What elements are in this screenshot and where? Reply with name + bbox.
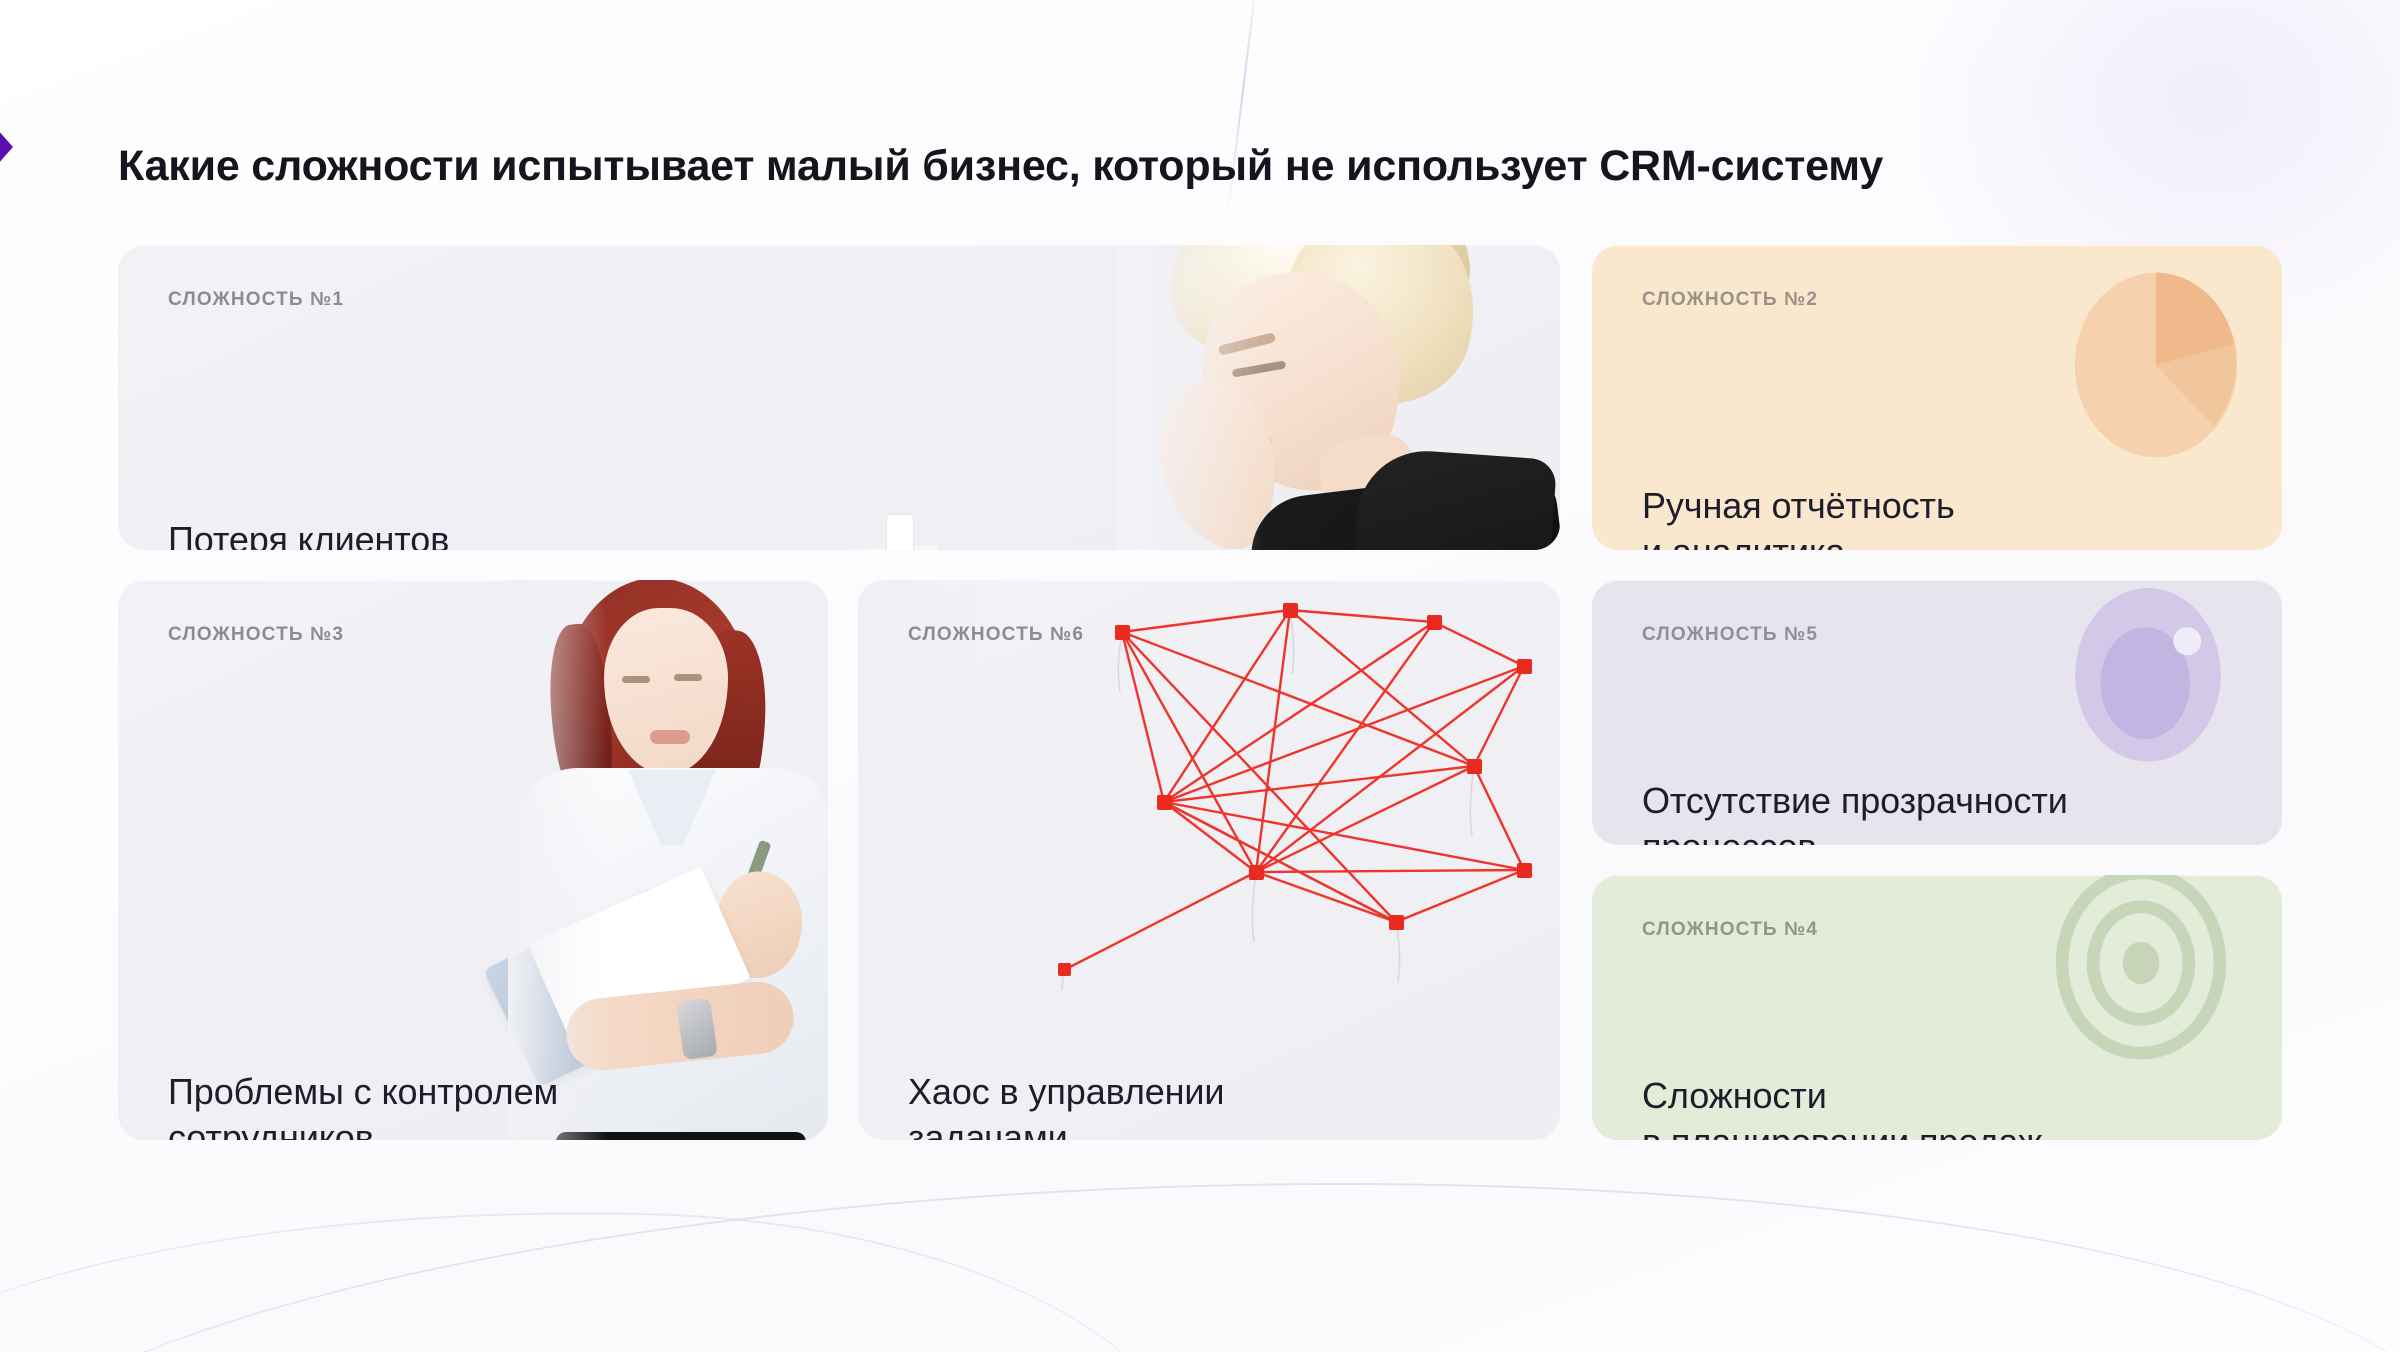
- card-eyebrow: СЛОЖНОСТЬ №6: [908, 624, 1510, 646]
- card-eyebrow: СЛОЖНОСТЬ №5: [1642, 624, 2232, 646]
- card-title: Сложности в планировании продаж: [1642, 1073, 2072, 1140]
- card-title: Ручная отчётность и аналитика: [1642, 483, 2072, 550]
- card-eyebrow: СЛОЖНОСТЬ №4: [1642, 919, 2232, 941]
- card-difficulty-3[interactable]: СЛОЖНОСТЬ №3 Проблемы с контролем сотруд…: [118, 580, 828, 1140]
- card-title: Потеря клиентов: [168, 517, 1510, 550]
- card-title: Хаос в управлении задачами: [908, 1069, 1510, 1140]
- card-difficulty-4[interactable]: СЛОЖНОСТЬ №4 Сложности в планировании пр…: [1592, 875, 2282, 1140]
- card-eyebrow: СЛОЖНОСТЬ №2: [1642, 289, 2232, 311]
- page-title: Какие сложности испытывает малый бизнес,…: [118, 141, 2268, 192]
- card-difficulty-6[interactable]: СЛОЖНОСТЬ №6 Хаос в управлении задачами: [858, 580, 1560, 1140]
- card-eyebrow: СЛОЖНОСТЬ №1: [168, 289, 1510, 311]
- card-eyebrow: СЛОЖНОСТЬ №3: [168, 624, 778, 646]
- card-difficulty-2[interactable]: СЛОЖНОСТЬ №2 Ручная отчётность и аналити…: [1592, 245, 2282, 550]
- cards-grid: СЛОЖНОСТЬ №1 Потеря клиентов СЛОЖНОСТЬ №…: [118, 245, 2282, 1245]
- card-title: Отсутствие прозрачности процессов: [1642, 778, 2072, 845]
- card-difficulty-1[interactable]: СЛОЖНОСТЬ №1 Потеря клиентов: [118, 245, 1560, 550]
- slide-canvas: Какие сложности испытывает малый бизнес,…: [0, 0, 2400, 1352]
- card-title: Проблемы с контролем сотрудников: [168, 1069, 778, 1140]
- card-difficulty-5[interactable]: СЛОЖНОСТЬ №5 Отсутствие прозрачности про…: [1592, 580, 2282, 845]
